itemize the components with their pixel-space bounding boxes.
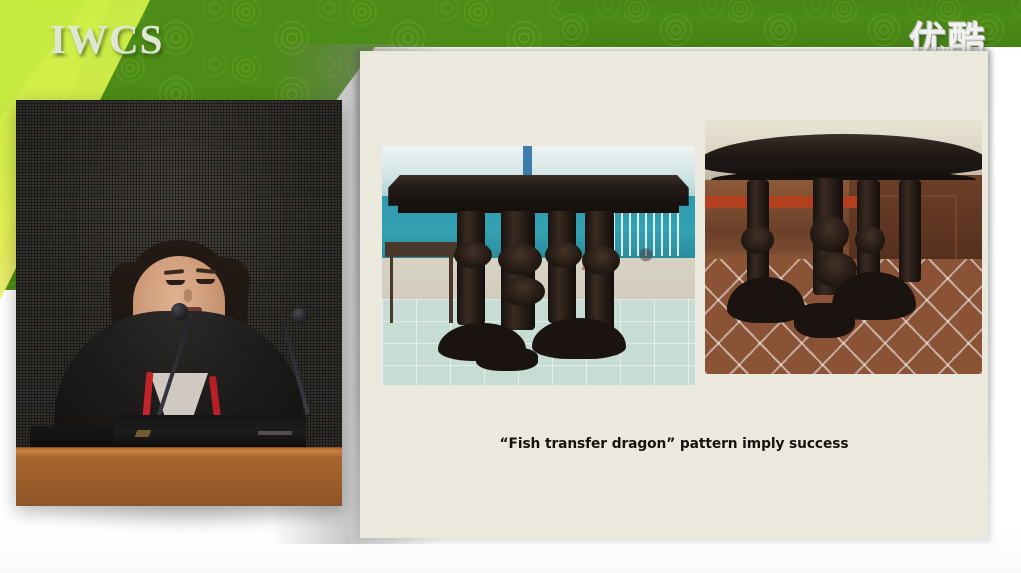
- lectern-wood-panel: [16, 448, 342, 506]
- laptop-label: [258, 431, 292, 435]
- photo-b-carving-2: [810, 216, 849, 252]
- photo-a-carving-3: [545, 242, 583, 268]
- photo-a-carving-2: [498, 244, 542, 275]
- photo-a-table-top: [388, 175, 688, 206]
- photo-a-carving-4: [582, 246, 620, 275]
- photo-b-scrolled-foot-front: [794, 303, 855, 339]
- microphone-head-right: [292, 308, 308, 324]
- photo-a-table-apron: [398, 203, 680, 213]
- photo-b-red-shelf: [705, 196, 877, 209]
- slide-photo-carved-table-outdoor: [382, 146, 695, 385]
- slide-caption: “Fish transfer dragon” pattern imply suc…: [376, 436, 973, 452]
- photo-a-carving-center: [501, 277, 545, 306]
- photo-b-leg-4: [899, 180, 921, 282]
- bag-on-lectern: [30, 426, 118, 448]
- photo-a-leg-1: [457, 211, 485, 326]
- iwcs-logo: IWCS: [50, 19, 163, 60]
- photo-b-carving-3: [855, 226, 885, 254]
- presenter-video-panel: [16, 100, 342, 506]
- video-player-stage: IWCS 优酷: [0, 0, 1021, 573]
- laptop-logo-icon: [135, 430, 152, 437]
- presenter-eye-right: [196, 279, 215, 284]
- laptop: [114, 415, 306, 449]
- microphone-head-left: [171, 303, 188, 320]
- presenter-eye-left: [166, 280, 185, 285]
- presentation-slide: “Fish transfer dragon” pattern imply suc…: [360, 51, 988, 538]
- presenter-nose: [184, 289, 192, 302]
- slide-photo-carved-table-indoor: [705, 119, 982, 374]
- photo-a-scrolled-foot-front: [476, 347, 539, 371]
- photo-a-carving-1: [454, 242, 492, 268]
